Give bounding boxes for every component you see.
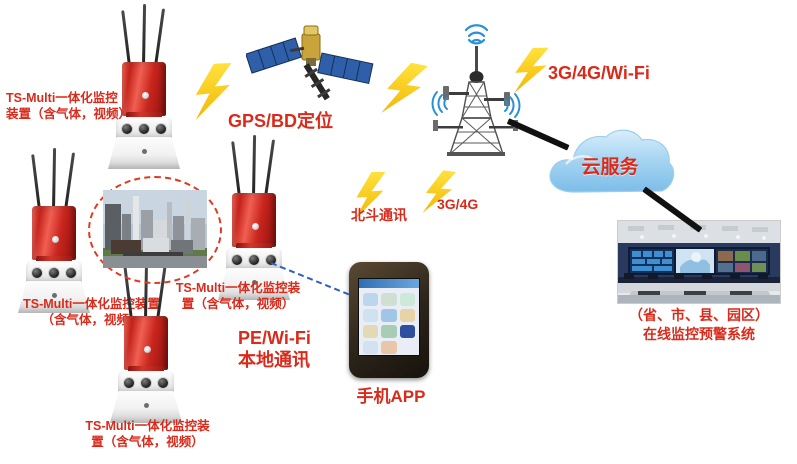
control-room-photo: [617, 220, 781, 304]
label-sensor-bottom: TS-Multi一体化监控装 置（含气体，视频）: [70, 418, 225, 450]
device-body: [232, 193, 276, 247]
camera-lens-icon: [65, 267, 77, 279]
app-icon[interactable]: [363, 293, 378, 306]
satellite-art: [246, 12, 374, 104]
antenna-icon: [142, 4, 146, 66]
antenna-icon: [52, 148, 56, 210]
camera-lens-icon: [31, 267, 43, 279]
app-icon[interactable]: [363, 325, 378, 338]
satellite-icon: [246, 12, 374, 104]
camera-lens-icon: [157, 377, 169, 389]
label-mobile-app: 手机APP: [349, 386, 433, 408]
camera-lens-icon: [155, 123, 167, 135]
app-icon[interactable]: [400, 293, 415, 306]
camera-lens-icon: [231, 254, 243, 266]
sensor-device-top-left: [96, 4, 192, 154]
app-icon[interactable]: [363, 309, 378, 322]
antenna-icon: [64, 152, 75, 210]
camera-lens-icon: [248, 254, 260, 266]
app-icon[interactable]: [400, 309, 415, 322]
device-collar: [26, 261, 82, 283]
cloud-icon: 云服务: [540, 118, 680, 204]
label-sensor-top-left: TS-Multi一体化监控 装置（含气体，视频）: [6, 90, 156, 122]
device-body: [32, 206, 76, 260]
camera-lens-icon: [123, 377, 135, 389]
antenna-icon: [252, 135, 256, 197]
label-3g4g: 3G/4G: [437, 196, 478, 214]
device-collar: [118, 371, 174, 393]
signal-bolt-gps-right: [378, 59, 429, 119]
antenna-icon: [264, 139, 275, 197]
camera-lens-icon: [48, 267, 60, 279]
device-base-cone: [108, 137, 180, 169]
label-pe-wifi: PE/Wi-Fi 本地通讯: [238, 328, 311, 372]
control-room-art: [618, 221, 780, 303]
cell-tower-icon: [425, 22, 529, 158]
camera-lens-icon: [140, 377, 152, 389]
label-gps-bd: GPS/BD定位: [228, 110, 333, 133]
camera-lens-icon: [121, 123, 133, 135]
app-icon[interactable]: [381, 341, 396, 354]
app-icon[interactable]: [363, 341, 378, 354]
app-icon[interactable]: [381, 309, 396, 322]
cloud-label: 云服务: [540, 152, 680, 179]
app-icon[interactable]: [381, 293, 396, 306]
label-beidou: 北斗通讯: [351, 207, 407, 225]
diagram-canvas: TS-Multi一体化监控 装置（含气体，视频） TS-Multi一体化监控装置…: [0, 0, 797, 464]
device-collar: [226, 248, 282, 270]
antenna-icon: [231, 141, 240, 197]
antenna-icon: [31, 154, 40, 210]
app-icon[interactable]: [381, 325, 396, 338]
app-icon[interactable]: [400, 325, 415, 338]
antenna-icon: [121, 10, 130, 66]
cell-tower-art: [425, 22, 529, 158]
tablet-app-grid: [359, 288, 419, 356]
app-icon[interactable]: [400, 341, 415, 354]
device-body: [124, 316, 168, 370]
antenna-icon: [154, 8, 165, 66]
label-3g4g-wifi: 3G/4G/Wi-Fi: [548, 62, 650, 85]
plant-photo-art: [103, 190, 207, 268]
sensor-device-mid-center: [206, 135, 302, 285]
industrial-plant-photo: [103, 190, 207, 268]
tablet-status-bar: [359, 279, 419, 288]
camera-lens-icon: [138, 123, 150, 135]
label-control-center: （省、市、县、园区） 在线监控预警系统: [604, 306, 794, 344]
tablet-screen: [358, 278, 420, 356]
rugged-tablet-icon: [349, 262, 429, 378]
